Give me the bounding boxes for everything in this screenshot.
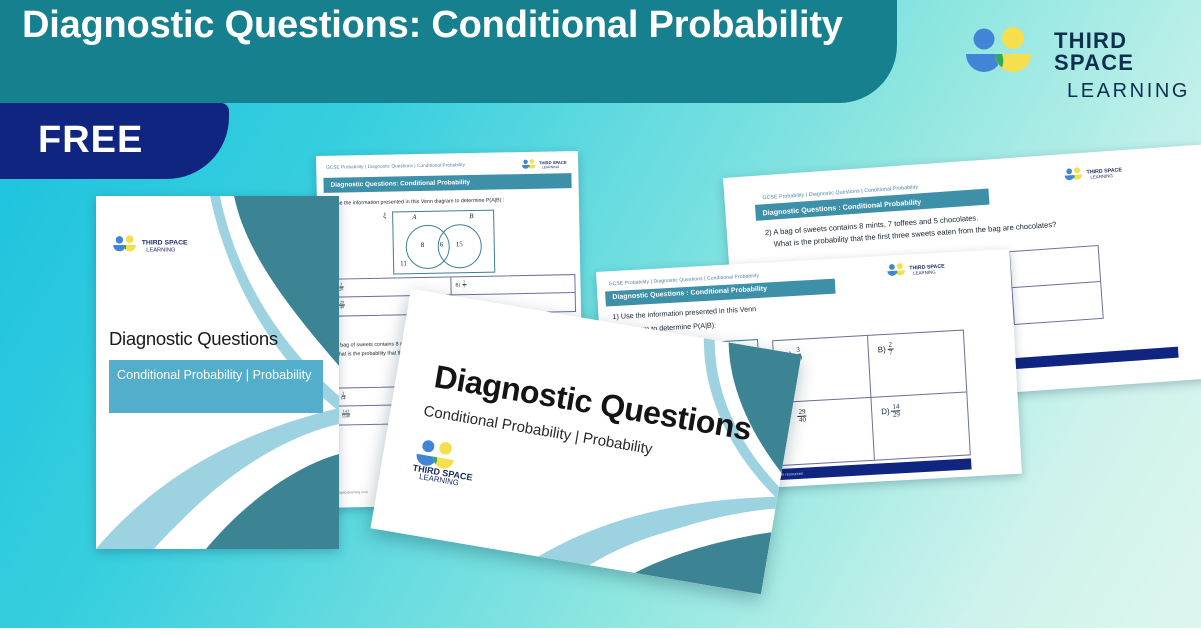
answer-option[interactable]: B) 27 [455, 280, 466, 290]
background-bottom-strip [0, 628, 1201, 637]
answer-grid-mid[interactable]: A) 320 B) 27 C) 2940 D) 1429 [772, 330, 971, 467]
svg-text:LEARNING: LEARNING [1090, 173, 1113, 180]
free-badge-label: FREE [38, 119, 143, 162]
option-denominator: 7 [462, 285, 466, 289]
third-space-logo-icon: THIRD SPACE LEARNING [1063, 162, 1126, 185]
venn-value-intersection: 6 [440, 241, 444, 249]
worksheet-back-question-1: 1) Use the information presented in this… [327, 196, 573, 209]
venn-label-a: A [412, 213, 416, 221]
option-denominator: 7 [888, 350, 894, 357]
venn-diagram-back: A B 8 6 15 11 [392, 210, 495, 275]
option-denominator: 1140 [341, 415, 351, 419]
cover-sheet[interactable]: THIRD SPACE LEARNING Diagnostic Question… [96, 196, 339, 549]
worksheet-mid-question-line1: 1) Use the information presented in this… [612, 304, 756, 323]
option-denominator: 40 [339, 306, 345, 310]
venn-value-b-only: 15 [456, 240, 463, 248]
venn-value-a-only: 8 [421, 241, 425, 249]
worksheet-back-breadcrumb: GCSE Probability | Diagnostic Questions … [326, 162, 465, 170]
third-space-logo-icon: THIRD SPACE LEARNING [886, 258, 949, 280]
answer-grid-right[interactable] [1009, 245, 1104, 325]
page-title: Diagnostic Questions: Conditional Probab… [22, 4, 852, 47]
third-space-logo-icon: THIRD SPACE LEARNING [521, 157, 569, 172]
option-denominator: 20 [338, 288, 344, 292]
venn-value-outside: 11 [400, 259, 407, 267]
svg-text:THIRD SPACE: THIRD SPACE [142, 239, 188, 246]
answer-option[interactable]: B) 27 [877, 342, 893, 358]
answer-option[interactable]: D) 1429 [881, 403, 901, 419]
brand-line-2: LEARNING [1067, 81, 1194, 101]
svg-text:LEARNING: LEARNING [542, 165, 560, 169]
third-space-logo-icon: THIRD SPACE LEARNING [112, 232, 192, 258]
worksheet-back-title-bar: Diagnostic Questions: Conditional Probab… [323, 173, 571, 193]
venn-label-b: B [469, 212, 473, 220]
brand-wordmark: THIRD SPACE LEARNING [1054, 30, 1194, 101]
cover-subtitle: Conditional Probability | Probability [117, 367, 317, 385]
worksheet-back-title: Diagnostic Questions: Conditional Probab… [330, 179, 470, 189]
cover-title: Diagnostic Questions [109, 328, 327, 350]
option-denominator: 64 [340, 397, 346, 401]
worksheet-right-title: Diagnostic Questions : Conditional Proba… [762, 197, 921, 217]
brand-line-1: THIRD SPACE [1054, 30, 1194, 74]
brand-logo: THIRD SPACE LEARNING [962, 22, 1194, 92]
option-key: B) [878, 345, 886, 354]
option-denominator: 40 [798, 416, 807, 423]
third-space-logo-icon [962, 26, 1046, 84]
svg-text:THIRD SPACE: THIRD SPACE [539, 160, 567, 166]
option-denominator: 29 [892, 411, 901, 418]
venn-universe-label: ξ [383, 212, 386, 220]
cover-subtitle-band: Conditional Probability | Probability [109, 360, 323, 413]
option-key: D) [881, 407, 890, 416]
option-key: B) [455, 282, 460, 287]
svg-text:LEARNING: LEARNING [146, 247, 176, 253]
worksheet-mid-title: Diagnostic Questions : Conditional Proba… [612, 285, 767, 301]
poster-stage: Diagnostic Questions: Conditional Probab… [0, 0, 1201, 637]
svg-text:LEARNING: LEARNING [913, 269, 936, 275]
third-space-logo-icon: THIRD SPACE LEARNING [409, 432, 526, 500]
